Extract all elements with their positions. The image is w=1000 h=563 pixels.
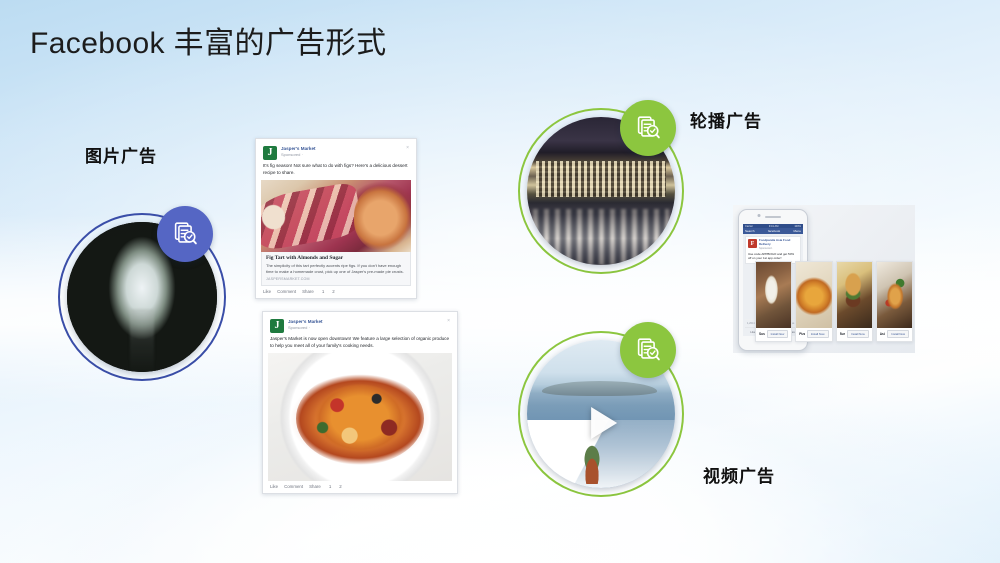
page-name[interactable]: Foodpanda Asia Food Delivery <box>759 239 798 247</box>
asian-noodles-photo <box>877 262 912 328</box>
carousel-card-meta: Pizza Delivery Install Now <box>796 328 831 341</box>
comment-count: 2 <box>339 484 341 489</box>
like-button[interactable]: Like <box>263 289 271 294</box>
carousel-card[interactable]: Asian Food Delivery Install Now <box>876 261 913 342</box>
app-nav-bar: Search facebook Menu <box>743 228 803 234</box>
seafood-paella-photo <box>268 353 452 481</box>
share-button[interactable]: Share <box>302 289 314 294</box>
carousel-ad-mockup: Carrier 9:41 AM 100% Search facebook Men… <box>733 205 915 353</box>
carousel-cards-strip[interactable]: Sushi Delivery Install Now Pizza Deliver… <box>755 261 913 342</box>
post-body-text: Jasper's Market is now open downtown! We… <box>268 333 452 353</box>
potted-plant-decoration <box>580 445 604 483</box>
avatar: F <box>748 239 757 248</box>
facebook-post-link-ad: J Jasper's Market Sponsored · × It's fig… <box>255 138 417 299</box>
app-logo: facebook <box>768 229 780 233</box>
comment-button[interactable]: Comment <box>284 484 303 489</box>
phone-post: F Foodpanda Asia Food Delivery Sponsored… <box>745 236 801 264</box>
document-magnifier-check-icon <box>170 219 200 249</box>
phone-post-header: F Foodpanda Asia Food Delivery Sponsored… <box>748 239 798 250</box>
post-body-text: It's fig season! Not sure what to do wit… <box>261 160 411 180</box>
page-title: Facebook 丰富的广告形式 <box>30 18 386 62</box>
carousel-ad-badge[interactable] <box>620 100 676 156</box>
link-preview[interactable]: Fig Tart with Almonds and Sugar The simp… <box>261 252 411 286</box>
post-identity: Jasper's Market Sponsored · <box>288 319 443 331</box>
video-ad-badge[interactable] <box>620 322 676 378</box>
carousel-card-title: Asian Food Delivery <box>880 332 886 336</box>
play-icon[interactable] <box>591 407 617 439</box>
sponsored-label: Sponsored · <box>288 325 443 330</box>
phone-post-identity: Foodpanda Asia Food Delivery Sponsored · <box>759 239 798 250</box>
link-description: The simplicity of this tart perfectly ac… <box>266 263 406 275</box>
avatar: J <box>263 146 277 160</box>
post-header: J Jasper's Market Sponsored · × <box>261 144 411 160</box>
comment-count: 2 <box>332 289 334 294</box>
carousel-card-meta: Asian Food Delivery Install Now <box>877 328 912 341</box>
clock-label: 9:41 AM <box>769 225 779 228</box>
document-magnifier-check-icon <box>633 335 663 365</box>
carrier-label: Carrier <box>745 225 753 228</box>
search-icon[interactable]: Search <box>745 229 755 233</box>
post-action-bar: Like Comment Share 1 2 <box>268 481 452 491</box>
post-identity: Jasper's Market Sponsored · <box>281 146 402 158</box>
share-button[interactable]: Share <box>309 484 321 489</box>
phone-post-body: Use code APPBOGO and get 50% off on your… <box>748 252 798 261</box>
battery-label: 100% <box>794 225 801 228</box>
carousel-card[interactable]: Burger Delivery Install Now <box>836 261 873 342</box>
fig-tart-photo <box>261 180 411 252</box>
label-video-ads: 视频广告 <box>703 462 775 487</box>
label-carousel-ads: 轮播广告 <box>690 107 762 132</box>
pizza-photo <box>796 262 831 328</box>
menu-icon[interactable]: Menu <box>793 229 801 233</box>
sponsored-label: Sponsored · <box>759 247 798 250</box>
close-icon[interactable]: × <box>447 319 450 324</box>
link-url: JASPERSMARKET.COM <box>266 277 406 281</box>
label-image-ads: 图片广告 <box>85 142 157 167</box>
carousel-card-meta: Sushi Delivery Install Now <box>756 328 791 341</box>
carousel-card[interactable]: Sushi Delivery Install Now <box>755 261 792 342</box>
install-now-button[interactable]: Install Now <box>767 330 789 338</box>
camera-icon <box>758 214 761 217</box>
post-action-bar: Like Comment Share 1 2 <box>261 286 411 296</box>
install-now-button[interactable]: Install Now <box>887 330 909 338</box>
like-button[interactable]: Like <box>270 484 278 489</box>
image-ad-badge[interactable] <box>157 206 213 262</box>
close-icon[interactable]: × <box>406 146 409 151</box>
post-header: J Jasper's Market Sponsored · × <box>268 317 452 333</box>
like-count: 1 <box>329 484 331 489</box>
sponsored-label: Sponsored · <box>281 152 402 157</box>
install-now-button[interactable]: Install Now <box>847 330 869 338</box>
speaker-grill <box>765 216 781 218</box>
comment-button[interactable]: Comment <box>277 289 296 294</box>
document-magnifier-check-icon <box>633 113 663 143</box>
like-count: 1 <box>322 289 324 294</box>
install-now-button[interactable]: Install Now <box>807 330 829 338</box>
burger-fries-photo <box>837 262 872 328</box>
facebook-post-photo-ad: J Jasper's Market Sponsored · × Jasper's… <box>262 311 458 494</box>
sushi-roll-photo <box>756 262 791 328</box>
carousel-card[interactable]: Pizza Delivery Install Now <box>795 261 832 342</box>
status-bar: Carrier 9:41 AM 100% <box>743 224 803 228</box>
slide-canvas: Facebook 丰富的广告形式 图片广告 轮播广告 视频广告 <box>0 0 1000 563</box>
avatar: J <box>270 319 284 333</box>
carousel-card-meta: Burger Delivery Install Now <box>837 328 872 341</box>
carousel-card-title: Sushi Delivery <box>759 332 765 336</box>
carousel-card-title: Pizza Delivery <box>799 332 805 336</box>
carousel-card-title: Burger Delivery <box>840 332 846 336</box>
link-title: Fig Tart with Almonds and Sugar <box>266 255 406 262</box>
